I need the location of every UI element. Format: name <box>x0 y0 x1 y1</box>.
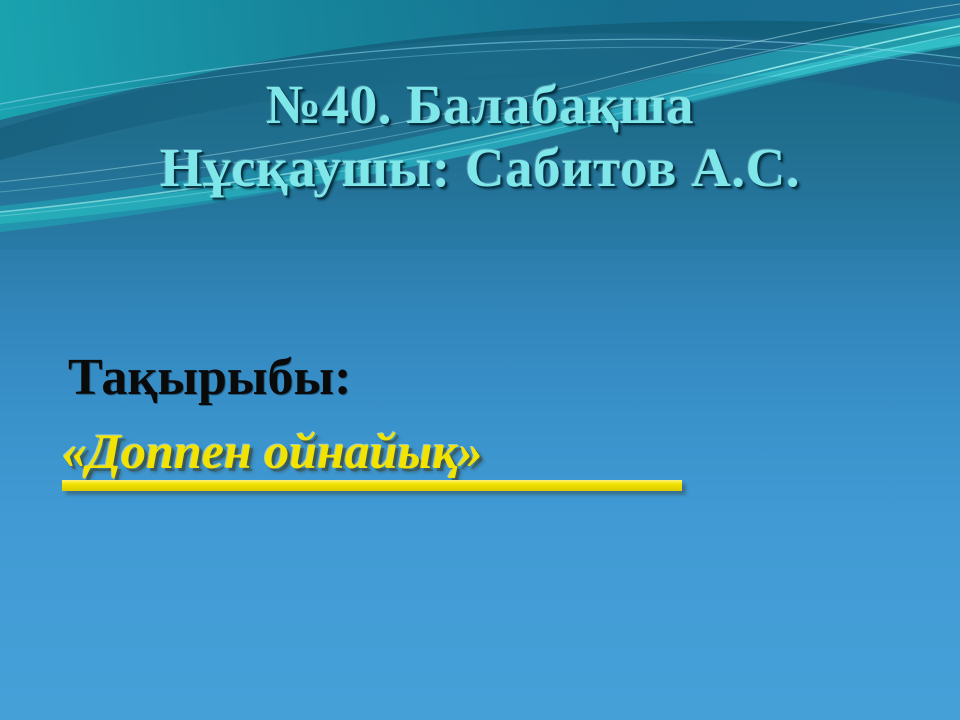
body-topic-text: «Доппен ойнайық» <box>56 426 906 476</box>
title-line-2: Нұсқаушы: Сабитов А.С. <box>0 137 960 200</box>
title-line-1: №40. Балабақша <box>0 74 960 137</box>
slide-title: №40. Балабақша Нұсқаушы: Сабитов А.С. <box>0 74 960 199</box>
presentation-slide: №40. Балабақша Нұсқаушы: Сабитов А.С. Та… <box>0 0 960 720</box>
body-heading-label: Тақырыбы: <box>56 352 906 404</box>
topic-underline-bar <box>62 480 682 491</box>
slide-body: Тақырыбы: «Доппен ойнайық» <box>56 352 906 491</box>
